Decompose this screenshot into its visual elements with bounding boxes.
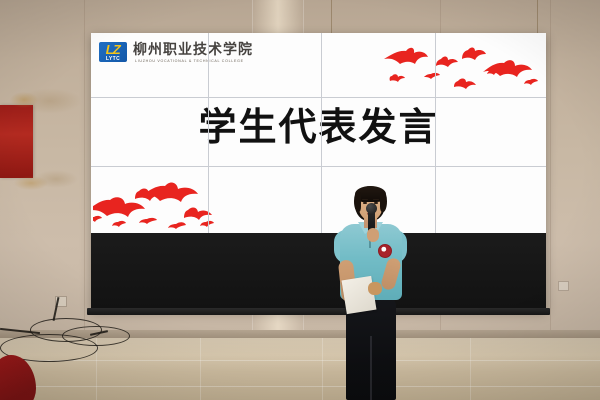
ceiling-wire xyxy=(331,0,332,33)
logo-mark: LZ xyxy=(105,43,122,56)
video-wall-base xyxy=(87,308,550,315)
wall-power-outlet xyxy=(558,281,569,291)
speaker-eye xyxy=(363,202,367,204)
speaker-hand-right xyxy=(368,282,382,295)
college-logo-icon: LZ LYTC xyxy=(99,42,127,62)
institution-name-cn: 柳州职业技术学院 xyxy=(133,43,253,58)
wall-stain xyxy=(14,176,48,190)
red-wall-banner xyxy=(0,105,33,178)
ceiling-wire xyxy=(537,0,538,33)
led-video-wall: LZ LYTC 柳州职业技术学院 LIUZHOU VOCATIONAL & TE… xyxy=(91,33,546,310)
student-speaker xyxy=(322,186,418,400)
institution-name-en: LIUZHOU VOCATIONAL & TECHNICAL COLLEGE xyxy=(135,59,244,64)
speaker-hair-side xyxy=(354,192,361,212)
bird-flock-bottom-left xyxy=(93,178,218,233)
video-wall-bezel xyxy=(435,33,436,233)
video-wall-bezel xyxy=(208,33,209,233)
wall-stain xyxy=(10,92,38,108)
speaker-hair-side xyxy=(380,192,387,212)
microphone-head-icon xyxy=(366,203,377,214)
video-wall-bezel xyxy=(91,166,546,167)
bird-flock-top-right xyxy=(384,45,539,100)
pants-seam xyxy=(370,336,372,400)
video-wall-bezel xyxy=(91,97,546,98)
photo-scene: LZ LYTC 柳州职业技术学院 LIUZHOU VOCATIONAL & TE… xyxy=(0,0,600,400)
speaker-badge xyxy=(378,244,392,258)
floor-tile-seam xyxy=(200,338,201,400)
speaker-hand-left xyxy=(367,228,379,242)
video-wall-lower-panels xyxy=(91,233,546,310)
slide-title: 学生代表发言 xyxy=(91,105,546,149)
floor-tile-seam xyxy=(470,338,471,400)
floor-tile-seam xyxy=(0,360,600,361)
floor-tile-seam xyxy=(0,386,600,387)
